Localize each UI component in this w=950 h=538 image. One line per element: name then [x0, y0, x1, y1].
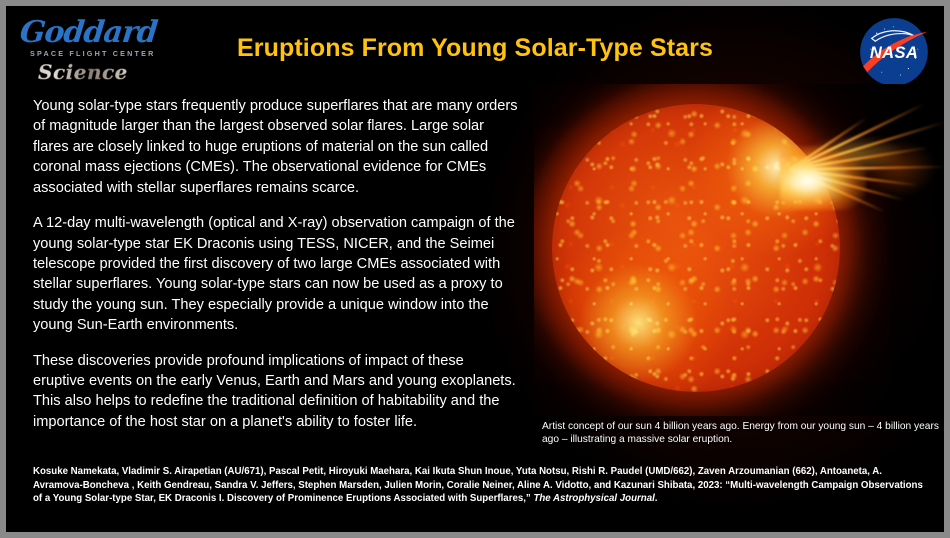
figure-caption: Artist concept of our sun 4 billion year… [542, 420, 946, 447]
poster-canvas: Goddard SPACE FLIGHT CENTER Science Erup… [0, 0, 950, 538]
citation-authors-and-title: Kosuke Namekata, Vladimir S. Airapetian … [33, 466, 923, 504]
sun-eruption-illustration [534, 84, 950, 416]
citation-journal-name: The Astrophysical Journal [533, 493, 654, 504]
paragraph-2: A 12-day multi-wavelength (optical and X… [33, 213, 518, 336]
citation-block: Kosuke Namekata, Vladimir S. Airapetian … [33, 465, 933, 506]
paragraph-1: Young solar-type stars frequently produc… [33, 96, 518, 198]
nasa-logo-icon: NASA [858, 16, 930, 88]
goddard-science-wordmark: Science [20, 60, 170, 84]
paragraph-3: These discoveries provide profound impli… [33, 351, 518, 433]
sun-scene [534, 84, 950, 416]
nasa-meatball-logo: NASA [858, 16, 930, 88]
article-body: Young solar-type stars frequently produc… [33, 96, 518, 432]
citation-terminator: . [655, 493, 658, 504]
svg-text:NASA: NASA [870, 43, 918, 62]
page-title: Eruptions From Young Solar-Type Stars [6, 34, 944, 63]
flare-bright-core [780, 146, 866, 210]
